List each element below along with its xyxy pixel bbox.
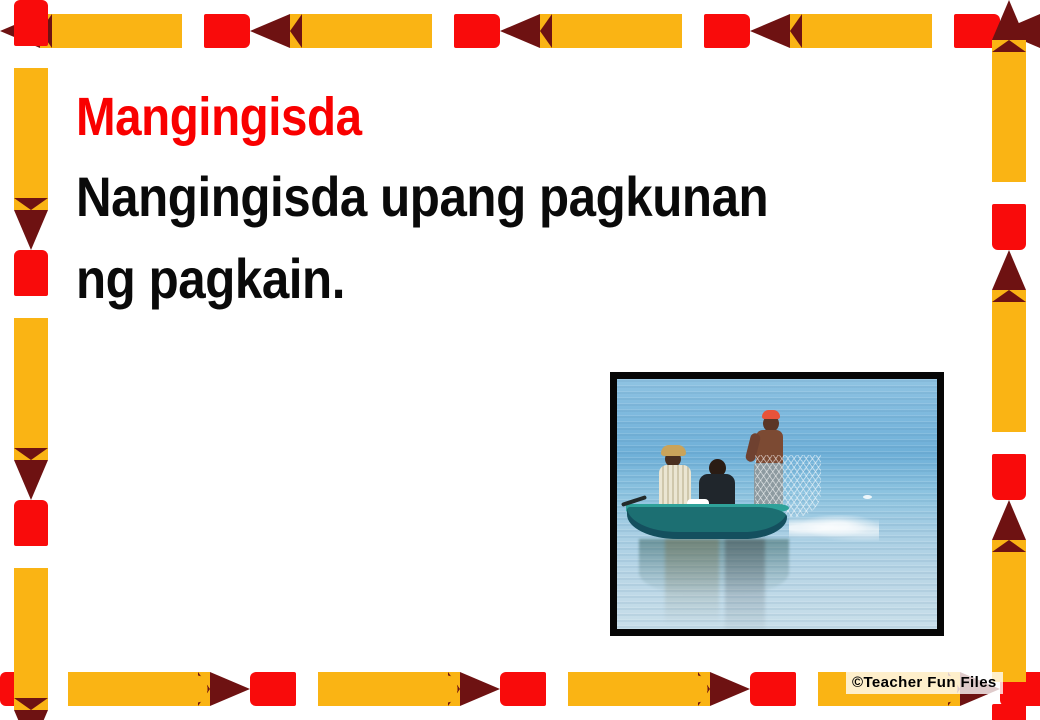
pencil-tip-notch-icon (290, 14, 302, 48)
pencil-body (68, 672, 210, 706)
pencil-eraser (454, 14, 500, 48)
text-block: Mangingisda Nangingisda upang pagkunan n… (76, 86, 936, 320)
pencil-eraser (992, 204, 1026, 250)
pencil-tip-notch-icon (992, 290, 1026, 302)
pencil-eraser (992, 454, 1026, 500)
fishermen-photo (610, 372, 944, 636)
pencil-border-left (0, 0, 56, 720)
pencil-tip-icon (750, 14, 790, 48)
pencil-ferrule (448, 672, 460, 706)
pencil-tip-notch-icon (14, 698, 48, 710)
pencil-tip-notch-icon (14, 198, 48, 210)
boat-hull (627, 507, 787, 539)
body-line-1: Nangingisda upang pagkunan (76, 156, 833, 238)
pencil-body (992, 540, 1026, 682)
pencil-tip-notch-icon (992, 540, 1026, 552)
pencil-tip-icon (14, 710, 48, 720)
pencil-eraser (750, 672, 796, 706)
pencil-body (318, 672, 460, 706)
pencil-tip-icon (992, 0, 1026, 40)
pencil-body (14, 568, 48, 710)
pencil-tip-notch-icon (14, 448, 48, 460)
pencil-eraser (500, 672, 546, 706)
pencil-body (790, 14, 932, 48)
page-title: Mangingisda (76, 86, 833, 148)
pencil-tip-icon (500, 14, 540, 48)
pencil-border-right (984, 0, 1040, 720)
pencil-tip-icon (250, 14, 290, 48)
pencil-eraser (14, 0, 48, 46)
pencil-body (290, 14, 432, 48)
pencil-tip-icon (14, 210, 48, 250)
watermark: ©Teacher Fun Files (846, 672, 1003, 694)
pencil-ferrule (198, 672, 210, 706)
pencil-eraser (14, 250, 48, 296)
pencil-tip-notch-icon (790, 14, 802, 48)
water-debris-1 (863, 495, 872, 499)
pencil-body (40, 14, 182, 48)
pencil-ferrule (698, 672, 710, 706)
fisherman-reflection-left (665, 539, 719, 625)
pencil-tip-icon (992, 250, 1026, 290)
pencil-tip-icon (210, 672, 250, 706)
pencil-tip-notch-icon (540, 14, 552, 48)
pencil-body (540, 14, 682, 48)
pencil-eraser (992, 704, 1026, 720)
standing-fisherman-cap-icon (762, 410, 780, 419)
pencil-tip-icon (992, 500, 1026, 540)
pencil-body (568, 672, 710, 706)
pencil-body (14, 68, 48, 210)
fisherman-reflection-middle (725, 539, 765, 629)
pencil-body (992, 290, 1026, 432)
photo-canvas (617, 379, 937, 629)
pencil-tip-notch-icon (992, 40, 1026, 52)
pencil-eraser (14, 500, 48, 546)
pencil-tip-icon (710, 672, 750, 706)
pencil-border-top (0, 0, 1040, 56)
pencil-eraser (250, 672, 296, 706)
slide-canvas: Mangingisda Nangingisda upang pagkunan n… (0, 0, 1040, 720)
body-line-2: ng pagkain. (76, 238, 833, 320)
pencil-eraser (204, 14, 250, 48)
water-splash (789, 515, 879, 541)
pencil-tip-icon (460, 672, 500, 706)
pencil-body (992, 40, 1026, 182)
pencil-body (14, 318, 48, 460)
pencil-tip-icon (14, 460, 48, 500)
pencil-eraser (704, 14, 750, 48)
seated-fisherman-left-hat-icon (661, 445, 686, 456)
